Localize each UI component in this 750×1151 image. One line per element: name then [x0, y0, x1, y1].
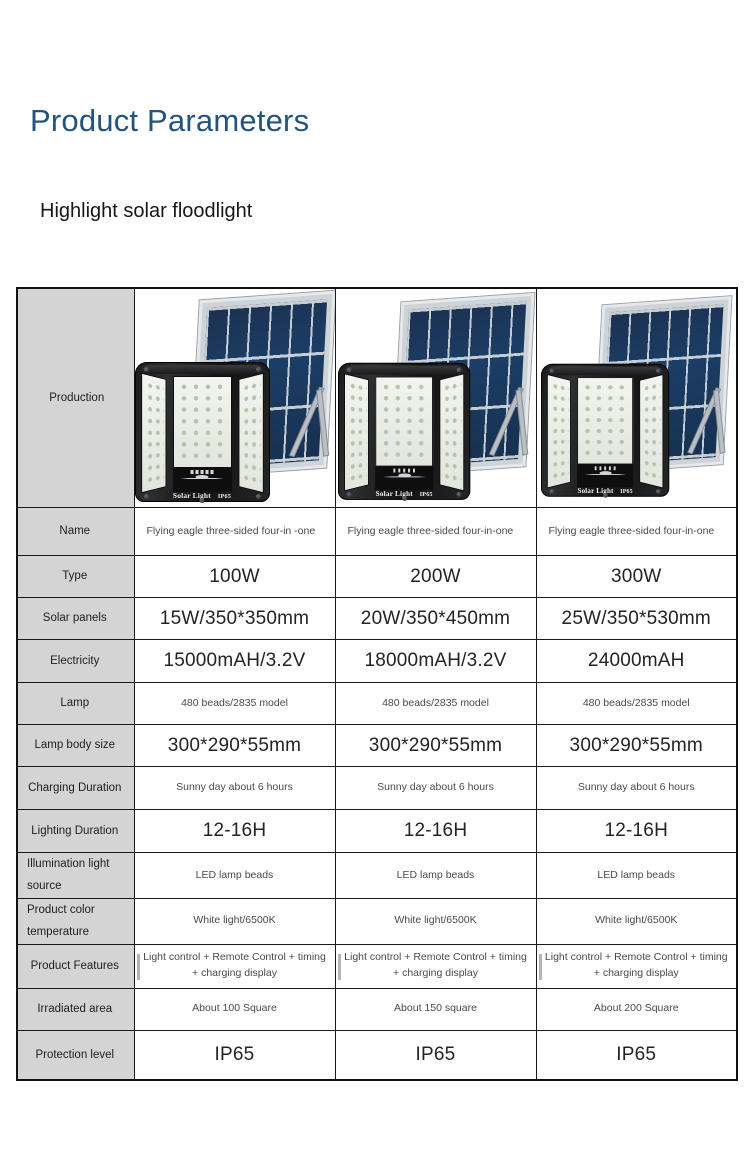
table-cell: 20W/350*450mm — [335, 598, 536, 640]
table-cell: 15W/350*350mm — [134, 598, 335, 640]
screw-icon — [401, 496, 406, 501]
brand-name: Solar Light — [375, 489, 412, 498]
table-row: Illumination light sourceLED lamp beadsL… — [17, 853, 737, 899]
charge-indicator-leds — [594, 466, 616, 469]
table-cell: White light/6500K — [335, 898, 536, 944]
table-cell: 15000mAH/3.2V — [134, 640, 335, 683]
table-cell: 12-16H — [335, 810, 536, 853]
table-cell: White light/6500K — [536, 898, 737, 944]
table-row: Irradiated areaAbout 100 SquareAbout 150… — [17, 988, 737, 1030]
table-cell: Sunny day about 6 hours — [536, 767, 737, 810]
table-cell: Sunny day about 6 hours — [134, 767, 335, 810]
row-label: Product color temperature — [17, 898, 134, 944]
table-cell: IP65 — [335, 1030, 536, 1080]
table-cell: 200W — [335, 556, 536, 598]
table-cell: 24000mAH — [536, 640, 737, 683]
table-cell: IP65 — [134, 1030, 335, 1080]
screw-icon — [256, 367, 261, 372]
row-label: Production — [17, 288, 134, 508]
table-cell: LED lamp beads — [134, 853, 335, 899]
table-cell: 300W — [536, 556, 737, 598]
row-label: Illumination light source — [17, 853, 134, 899]
led-panel-right — [238, 373, 263, 494]
solar-panel-stand — [300, 384, 334, 461]
table-cell: Flying eagle three-sided four-in-one — [335, 508, 536, 556]
table-cell: LED lamp beads — [335, 853, 536, 899]
brand-name: Solar Light — [173, 491, 211, 500]
table-row: Product FeaturesLight control + Remote C… — [17, 944, 737, 988]
table-row: Production — [17, 288, 737, 508]
table-row: Charging DurationSunny day about 6 hours… — [17, 767, 737, 810]
ip-rating-text: IP65 — [218, 493, 231, 500]
led-panel-center — [375, 376, 433, 466]
specifications-table: Production — [16, 287, 738, 1081]
table-row: Lamp480 beads/2835 model480 beads/2835 m… — [17, 683, 737, 725]
floodlight-fixture: Solar LightIP65 — [541, 364, 669, 497]
brand-flourish-icon — [180, 476, 224, 481]
table-row: Type100W200W300W — [17, 556, 737, 598]
floodlight-nameplate — [577, 465, 633, 488]
screw-icon — [346, 368, 351, 373]
row-label: Product Features — [17, 944, 134, 988]
row-label: Name — [17, 508, 134, 556]
solar-floodlight-illustration: Solar LightIP65 — [338, 294, 534, 502]
table-row: Lamp body size300*290*55mm300*290*55mm30… — [17, 725, 737, 767]
screw-icon — [346, 492, 351, 497]
row-label: Type — [17, 556, 134, 598]
screw-icon — [200, 498, 205, 503]
screw-icon — [603, 493, 608, 498]
product-image-cell: Solar LightIP65 — [135, 289, 335, 507]
table-cell: 12-16H — [134, 810, 335, 853]
table-cell: 25W/350*530mm — [536, 598, 737, 640]
floodlight-nameplate — [375, 467, 433, 491]
page-title: Product Parameters — [30, 103, 309, 139]
row-label: Irradiated area — [17, 988, 134, 1030]
brand-flourish-icon — [382, 474, 425, 479]
table-cell: 480 beads/2835 model — [536, 683, 737, 725]
solar-panel-stand — [500, 384, 536, 460]
table-row: Solar panels15W/350*350mm20W/350*450mm25… — [17, 598, 737, 640]
product-image-cell: Solar LightIP65 — [537, 289, 737, 507]
page-subtitle: Highlight solar floodlight — [40, 200, 252, 223]
table-cell: 18000mAH/3.2V — [335, 640, 536, 683]
table-row: NameFlying eagle three-sided four-in -on… — [17, 508, 737, 556]
screw-icon — [144, 367, 149, 372]
led-panel-center — [173, 376, 232, 468]
table-cell: Flying eagle three-sided four-in -one — [134, 508, 335, 556]
table-cell: 300*290*55mm — [335, 725, 536, 767]
charge-indicator-leds — [191, 470, 214, 474]
row-label: Lighting Duration — [17, 810, 134, 853]
table-cell: IP65 — [536, 1030, 737, 1080]
table-row: Lighting Duration12-16H12-16H12-16H — [17, 810, 737, 853]
led-panel-left — [547, 374, 571, 489]
table-cell: 480 beads/2835 model — [134, 683, 335, 725]
product-parameters-page: Product Parameters Highlight solar flood… — [0, 0, 750, 1151]
screw-icon — [456, 492, 461, 497]
table-cell: Flying eagle three-sided four-in-one — [536, 508, 737, 556]
table-cell: Solar LightIP65 — [536, 288, 737, 508]
table-cell: Sunny day about 6 hours — [335, 767, 536, 810]
table-cell: 12-16H — [536, 810, 737, 853]
table-cell: 480 beads/2835 model — [335, 683, 536, 725]
led-panel-right — [640, 374, 664, 489]
row-label: Electricity — [17, 640, 134, 683]
table-cell: 100W — [134, 556, 335, 598]
led-panel-right — [439, 373, 464, 491]
screw-icon — [256, 494, 261, 499]
table-cell: About 200 Square — [536, 988, 737, 1030]
brand-name: Solar Light — [578, 486, 614, 495]
brand-flourish-icon — [584, 472, 626, 477]
product-image-cell: Solar LightIP65 — [336, 289, 536, 507]
table-cell: White light/6500K — [134, 898, 335, 944]
solar-panel-stand — [699, 385, 736, 458]
table-cell: About 150 square — [335, 988, 536, 1030]
table-cell: Light control + Remote Control + timing … — [536, 944, 737, 988]
table-cell: 300*290*55mm — [134, 725, 335, 767]
table-cell: Solar LightIP65 — [335, 288, 536, 508]
table-cell: Light control + Remote Control + timing … — [134, 944, 335, 988]
floodlight-fixture: Solar LightIP65 — [135, 362, 270, 502]
table-row: Product color temperatureWhite light/650… — [17, 898, 737, 944]
screw-icon — [456, 368, 461, 373]
floodlight-nameplate — [173, 468, 232, 492]
led-panel-center — [577, 377, 633, 464]
row-label: Lamp body size — [17, 725, 134, 767]
solar-floodlight-illustration: Solar LightIP65 — [135, 292, 335, 504]
floodlight-fixture: Solar LightIP65 — [338, 363, 470, 500]
table-cell: Solar LightIP65 — [134, 288, 335, 508]
charge-indicator-leds — [392, 469, 415, 473]
table-cell: About 100 Square — [134, 988, 335, 1030]
table-row: Protection levelIP65IP65IP65 — [17, 1030, 737, 1080]
led-panel-left — [141, 373, 166, 494]
row-label: Protection level — [17, 1030, 134, 1080]
table-cell: 300*290*55mm — [536, 725, 737, 767]
table-row: Electricity15000mAH/3.2V18000mAH/3.2V240… — [17, 640, 737, 683]
led-panel-left — [344, 373, 369, 491]
solar-floodlight-illustration: Solar LightIP65 — [541, 297, 731, 498]
screw-icon — [144, 494, 149, 499]
row-label: Solar panels — [17, 598, 134, 640]
row-label: Charging Duration — [17, 767, 134, 810]
table-cell: LED lamp beads — [536, 853, 737, 899]
ip-rating-text: IP65 — [620, 488, 633, 495]
row-label: Lamp — [17, 683, 134, 725]
ip-rating-text: IP65 — [419, 491, 432, 498]
table-cell: Light control + Remote Control + timing … — [335, 944, 536, 988]
